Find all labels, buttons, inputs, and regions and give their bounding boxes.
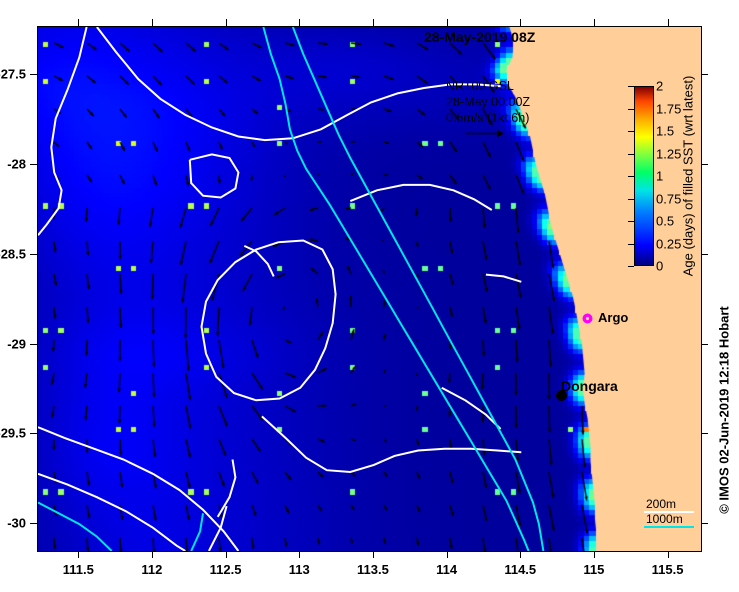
y-tick-right bbox=[701, 523, 708, 524]
colorbar-tick-label: 1 bbox=[656, 169, 663, 184]
x-tick bbox=[447, 551, 448, 558]
argo-label: Argo bbox=[598, 310, 628, 325]
date-time-stamp: 28-May-2019 08Z bbox=[424, 29, 535, 45]
x-tick-top bbox=[520, 19, 521, 26]
x-tick bbox=[594, 551, 595, 558]
argo-marker-icon bbox=[582, 313, 593, 324]
colorbar-axis-title: Age (days) of filled SST (wrt latest) bbox=[681, 76, 696, 277]
colorbar-tick bbox=[628, 109, 634, 110]
colorbar-gradient bbox=[635, 87, 653, 265]
colorbar-tick bbox=[628, 244, 634, 245]
dongara-label: Dongara bbox=[561, 378, 618, 394]
isobath-1000m-swatch bbox=[644, 526, 694, 528]
right-arrow-icon bbox=[464, 128, 506, 139]
colorbar-tick bbox=[628, 199, 634, 200]
colorbar-tick-label: 0.5 bbox=[656, 214, 674, 229]
colorbar-tick bbox=[628, 86, 634, 87]
colorbar-tick-label: 1.5 bbox=[656, 124, 674, 139]
gsl-scale-label: 0.5m/s (1kt 6h) bbox=[446, 110, 530, 126]
x-tick bbox=[520, 551, 521, 558]
colorbar-tick-label: 0.75 bbox=[656, 191, 681, 206]
gsl-timestamp: 28-May 00:00Z bbox=[446, 94, 530, 110]
x-tick-label: 114 bbox=[436, 562, 457, 577]
x-tick-top bbox=[668, 19, 669, 26]
current-vector-field bbox=[38, 27, 701, 551]
x-tick-top bbox=[299, 19, 300, 26]
x-tick bbox=[226, 551, 227, 558]
y-tick bbox=[30, 74, 37, 75]
x-tick-label: 115.5 bbox=[652, 562, 684, 577]
gsl-reference-arrow bbox=[446, 127, 530, 143]
x-tick bbox=[373, 551, 374, 558]
x-tick-top bbox=[78, 19, 79, 26]
isobath-legend-item-200m: 200m bbox=[644, 497, 683, 512]
figure-root: 28-May-2019 08Z NRT00 GSL 28-May 00:00Z … bbox=[0, 0, 739, 592]
x-tick bbox=[78, 551, 79, 558]
gsl-annotation: NRT00 GSL 28-May 00:00Z 0.5m/s (1kt 6h) bbox=[446, 78, 530, 143]
x-tick-label: 113.5 bbox=[357, 562, 389, 577]
y-tick-label: -27.5 bbox=[0, 67, 26, 82]
x-tick bbox=[668, 551, 669, 558]
colorbar-tick bbox=[628, 266, 634, 267]
x-tick-label: 112.5 bbox=[210, 562, 242, 577]
y-tick-right bbox=[701, 433, 708, 434]
isobath-200m-label: 200m bbox=[644, 497, 676, 511]
y-tick-label: -29.5 bbox=[0, 426, 26, 441]
x-tick-label: 112 bbox=[141, 562, 162, 577]
colorbar-tick bbox=[628, 154, 634, 155]
colorbar-tick-label: 1.75 bbox=[656, 101, 681, 116]
y-tick bbox=[30, 164, 37, 165]
y-tick-label: -28.5 bbox=[0, 246, 26, 261]
credit-text: © IMOS 02-Jun-2019 12:18 Hobart bbox=[717, 306, 732, 514]
y-tick-right bbox=[701, 254, 708, 255]
x-tick-top bbox=[226, 19, 227, 26]
y-tick bbox=[30, 433, 37, 434]
colorbar-tick-label: 2 bbox=[656, 79, 663, 94]
gsl-product-label: NRT00 GSL bbox=[446, 78, 530, 94]
x-tick-top bbox=[447, 19, 448, 26]
isobath-1000m-label: 1000m bbox=[644, 512, 683, 526]
colorbar-tick-label: 0 bbox=[656, 259, 663, 274]
map-plot-area[interactable] bbox=[37, 26, 702, 552]
y-tick bbox=[30, 344, 37, 345]
y-tick-label: -28 bbox=[7, 157, 26, 172]
isobath-legend: 200m 1000m bbox=[644, 497, 683, 527]
y-tick bbox=[30, 523, 37, 524]
colorbar-tick bbox=[628, 131, 634, 132]
y-tick-label: -29 bbox=[7, 336, 26, 351]
colorbar-tick bbox=[628, 176, 634, 177]
x-tick-top bbox=[152, 19, 153, 26]
isobath-legend-item-1000m: 1000m bbox=[644, 512, 683, 527]
x-tick-label: 114.5 bbox=[504, 562, 536, 577]
x-tick-label: 115 bbox=[583, 562, 604, 577]
colorbar-tick-label: 1.25 bbox=[656, 146, 681, 161]
x-tick-top bbox=[373, 19, 374, 26]
x-tick bbox=[152, 551, 153, 558]
y-tick-label: -30 bbox=[7, 516, 26, 531]
y-tick-right bbox=[701, 344, 708, 345]
y-tick bbox=[30, 254, 37, 255]
y-tick-right bbox=[701, 164, 708, 165]
y-tick-right bbox=[701, 74, 708, 75]
x-tick-top bbox=[594, 19, 595, 26]
x-tick bbox=[299, 551, 300, 558]
x-tick-label: 111.5 bbox=[63, 562, 94, 577]
colorbar-tick-label: 0.25 bbox=[656, 236, 681, 251]
colorbar bbox=[634, 86, 654, 266]
x-tick-label: 113 bbox=[289, 562, 310, 577]
colorbar-tick bbox=[628, 221, 634, 222]
